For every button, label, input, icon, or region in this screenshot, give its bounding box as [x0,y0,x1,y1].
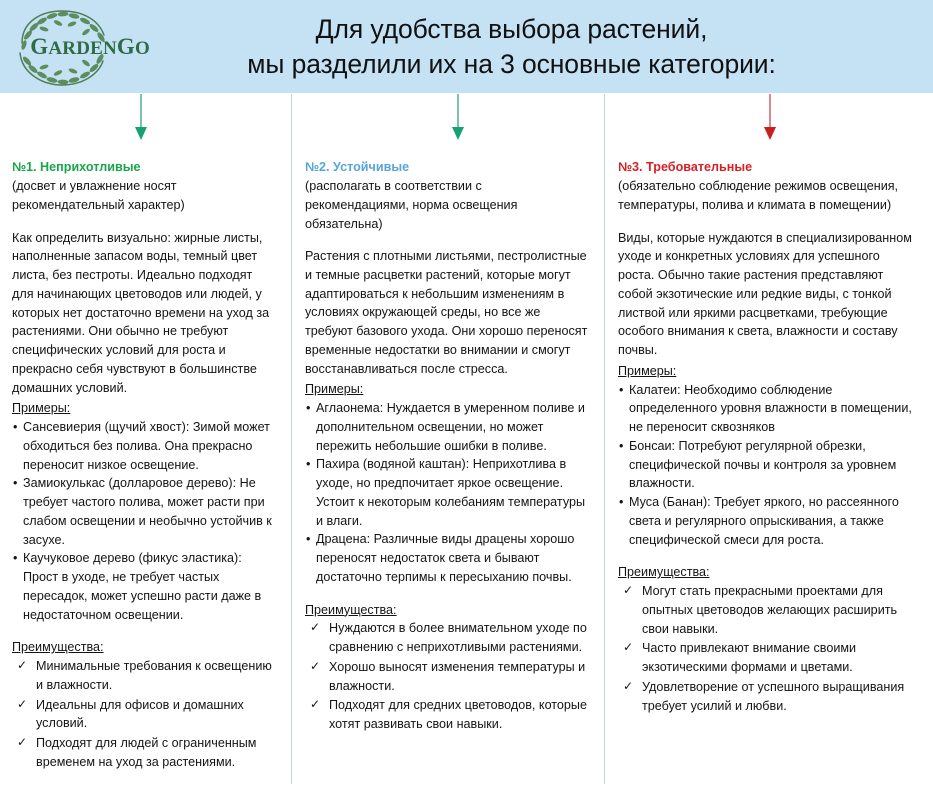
category-1-benefits-label: Преимущества: [12,638,275,657]
list-item: Хорошо выносят изменения температуры и в… [305,658,588,696]
list-item: Часто привлекают внимание своими экзотич… [618,639,917,677]
list-item: Замиокулькас (долларовое дерево): Не тре… [12,474,275,549]
category-column-1: №1. Неприхотливые (досвет и увлажнение н… [0,158,291,773]
list-item: Драцена: Различные виды драцены хорошо п… [305,530,588,586]
list-item: Калатеи: Необходимо соблюдение определен… [618,381,917,437]
list-item: Могут стать прекрасными проектами для оп… [618,582,917,638]
category-2-examples-label: Примеры: [305,380,588,399]
list-item: Нуждаются в более внимательном уходе по … [305,619,588,657]
category-1-description: Как определить визуально: жирные листы, … [12,229,275,398]
category-3-description: Виды, которые нуждаются в специализирова… [618,229,917,360]
list-item: Подходят для людей с ограниченным времен… [12,734,275,772]
laurel-wreath-icon [0,5,30,89]
arrow-stem [140,94,142,130]
category-3-benefits-label: Преимущества: [618,563,917,582]
arrow-head [135,127,147,140]
category-1-benefits-list: Минимальные требования к освещению и вла… [12,657,275,772]
list-item: Муса (Банан): Требует яркого, но рассеян… [618,493,917,549]
list-item: Бонсаи: Потребуют регулярной обрезки, сп… [618,437,917,493]
list-item: Подходят для средних цветоводов, которые… [305,696,588,734]
category-1-examples-label: Примеры: [12,399,275,418]
arrow-head [764,127,776,140]
category-3-examples-list: Калатеи: Необходимо соблюдение определен… [618,381,917,550]
list-item: Пахира (водяной каштан): Неприхотлива в … [305,455,588,530]
list-item: Сансевиерия (щучий хвост): Зимой может о… [12,418,275,474]
list-item: Аглаонема: Нуждается в умеренном поливе … [305,399,588,455]
brand-logo: GARDENGO [0,0,150,93]
category-column-2: №2. Устойчивые (располагать в соответств… [291,158,604,773]
category-2-benefits-list: Нуждаются в более внимательном уходе по … [305,619,588,734]
arrow-head [452,127,464,140]
category-column-3: №3. Требовательные (обязательно соблюден… [604,158,933,773]
category-columns: №1. Неприхотливые (досвет и увлажнение н… [0,158,933,773]
arrow-to-category-2 [457,94,459,138]
category-2-benefits-label: Преимущества: [305,601,588,620]
list-item: Минимальные требования к освещению и вла… [12,657,275,695]
category-2-description: Растения с плотными листьями, пестролист… [305,247,588,378]
page-title-line-2: мы разделили их на 3 основные категории: [150,47,873,81]
category-1-examples-list: Сансевиерия (щучий хвост): Зимой может о… [12,418,275,624]
arrow-to-category-1 [140,94,142,138]
page-title: Для удобства выбора растений, мы раздели… [150,12,933,81]
category-2-examples-list: Аглаонема: Нуждается в умеренном поливе … [305,399,588,587]
page-header: GARDENGO Для удобства выбора растений, м… [0,0,933,93]
list-item: Идеальны для офисов и домашних условий. [12,696,275,734]
category-3-examples-label: Примеры: [618,362,917,381]
list-item: Каучуковое дерево (фикус эластика): Прос… [12,549,275,624]
arrow-stem [769,94,771,130]
brand-name: GARDENGO [30,34,150,60]
category-3-subtitle: (обязательно соблюдение режимов освещени… [618,177,917,214]
category-3-benefits-list: Могут стать прекрасными проектами для оп… [618,582,917,715]
list-item: Удовлетворение от успешного выращивания … [618,678,917,716]
arrow-stem [457,94,459,130]
category-2-heading: №2. Устойчивые [305,158,588,176]
category-1-subtitle: (досвет и увлажнение носят рекомендатель… [12,177,275,214]
arrow-to-category-3 [769,94,771,138]
page-title-line-1: Для удобства выбора растений, [150,12,873,46]
category-1-heading: №1. Неприхотливые [12,158,275,176]
category-2-subtitle: (располагать в соответствии с рекомендац… [305,177,588,233]
category-3-heading: №3. Требовательные [618,158,917,176]
